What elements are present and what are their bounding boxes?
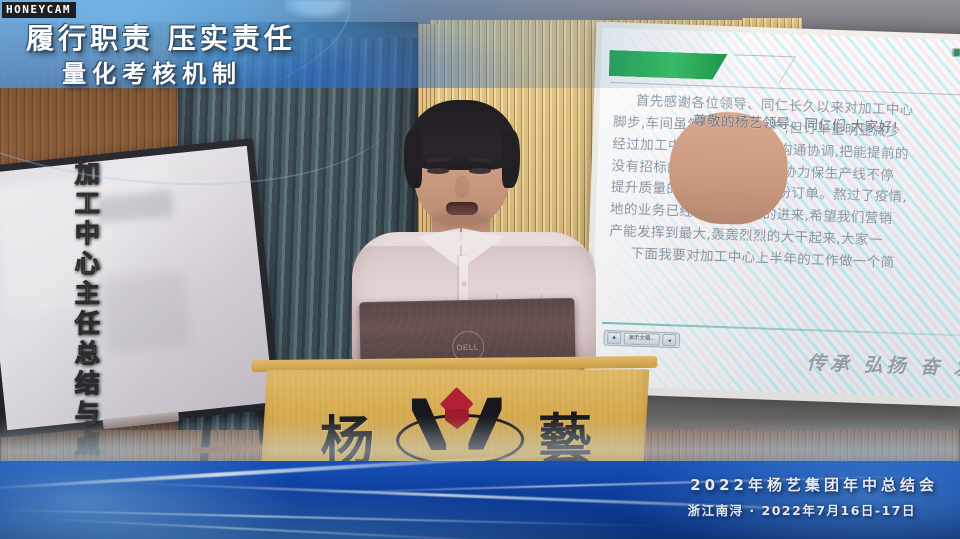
eye-left bbox=[427, 168, 449, 174]
nose bbox=[455, 176, 469, 198]
overlay-title-line2: 量化考核机制 bbox=[62, 54, 482, 89]
slide-calligraphy-text: 传承 弘扬 奋 发 bbox=[807, 348, 960, 381]
honeycam-watermark: HONEYCAM bbox=[2, 2, 76, 18]
footer-event-title: 2022年杨艺集团年中总结会 bbox=[690, 474, 938, 495]
presentation-toolbar[interactable]: ● 演示文稿... ◂ bbox=[603, 330, 680, 348]
shirt-button bbox=[462, 282, 466, 286]
speaker-icon[interactable]: ◂ bbox=[662, 334, 676, 346]
eye-right bbox=[469, 168, 491, 174]
menu-icon[interactable]: ● bbox=[607, 332, 621, 344]
video-frame: 加工中心主任总结与点评 尊敬的杨艺领导、同仁们 大家好! 首先感谢各位领导、同仁… bbox=[0, 0, 960, 539]
slide-line: 尊敬的杨艺领导、同仁们 大家好! bbox=[668, 110, 790, 226]
hair-side-left bbox=[404, 130, 422, 188]
overlay-title-line1: 履行职责 压实责任 bbox=[26, 17, 446, 57]
hair-side-right bbox=[502, 130, 520, 188]
slide-body-text: 尊敬的杨艺领导、同仁们 大家好! 首先感谢各位领导、同仁长久以来对加工中心 脚步… bbox=[608, 90, 960, 277]
chin-shadow bbox=[430, 212, 494, 228]
presentation-file-label[interactable]: 演示文稿... bbox=[624, 332, 660, 345]
footer-event-subtitle: 浙江南浔 · 2022年7月16日-17日 bbox=[688, 500, 916, 519]
whiteboard-smudge-secondary bbox=[99, 269, 192, 355]
